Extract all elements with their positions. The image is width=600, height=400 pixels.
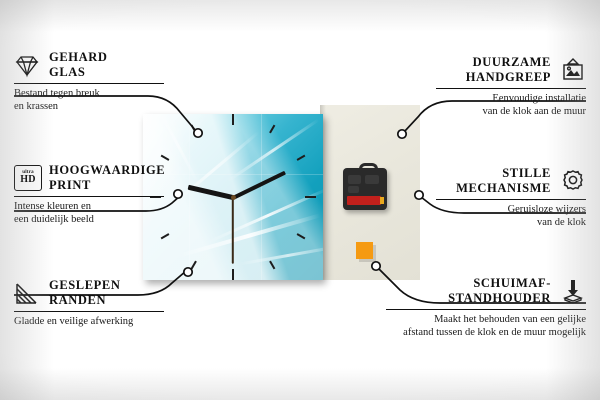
- feature-schuimaf-standhouder: SCHUIMAF- STANDHOUDER Maakt het behouden…: [386, 276, 586, 339]
- feature-rule: [14, 196, 164, 197]
- feature-stille-mechanisme: STILLE MECHANISME Geruisloze wijzers van…: [436, 166, 586, 229]
- feature-rule: [436, 88, 586, 89]
- feature-rule: [386, 309, 586, 310]
- beveled-edge-icon: [14, 280, 40, 306]
- connector-dot: [415, 191, 423, 199]
- feature-title: STILLE MECHANISME: [456, 166, 551, 195]
- gear-icon: [560, 168, 586, 194]
- connector-dot: [174, 190, 182, 198]
- connector-dot: [184, 268, 192, 276]
- connector-dot: [398, 130, 406, 138]
- feature-desc: Maakt het behouden van een gelijke afsta…: [386, 314, 586, 339]
- connector-dot: [372, 262, 380, 270]
- connector-dot: [194, 129, 202, 137]
- feature-title: DUURZAME HANDGREEP: [466, 55, 551, 84]
- arrow-down-pad-icon: [560, 278, 586, 304]
- feature-desc: Geruisloze wijzers van de klok: [436, 204, 586, 229]
- feature-rule: [14, 311, 164, 312]
- feature-title: SCHUIMAF- STANDHOUDER: [448, 276, 551, 305]
- ultra-hd-icon: ultra HD: [14, 165, 40, 191]
- feature-desc: Intense kleuren en een duidelijk beeld: [14, 201, 164, 226]
- feature-hoogwaardige-print: ultra HD HOOGWAARDIGE PRINT Intense kleu…: [14, 163, 164, 226]
- feature-title: GESLEPEN RANDEN: [49, 278, 121, 307]
- feature-rule: [14, 83, 164, 84]
- feature-desc: Gladde en veilige afwerking: [14, 316, 164, 329]
- framed-picture-icon: [560, 57, 586, 83]
- feature-rule: [436, 199, 586, 200]
- feature-title: HOOGWAARDIGE PRINT: [49, 163, 165, 192]
- diamond-icon: [14, 52, 40, 78]
- feature-gehard-glas: GEHARD GLAS Bestand tegen breuk en krass…: [14, 50, 164, 113]
- feature-duurzame-handgreep: DUURZAME HANDGREEP Eenvoudige installati…: [436, 55, 586, 118]
- feature-desc: Eenvoudige installatie van de klok aan d…: [436, 93, 586, 118]
- feature-desc: Bestand tegen breuk en krassen: [14, 88, 164, 113]
- feature-geslepen-randen: GESLEPEN RANDEN Gladde en veilige afwerk…: [14, 278, 164, 329]
- infographic-canvas: GEHARD GLAS Bestand tegen breuk en krass…: [0, 0, 600, 400]
- feature-title: GEHARD GLAS: [49, 50, 107, 79]
